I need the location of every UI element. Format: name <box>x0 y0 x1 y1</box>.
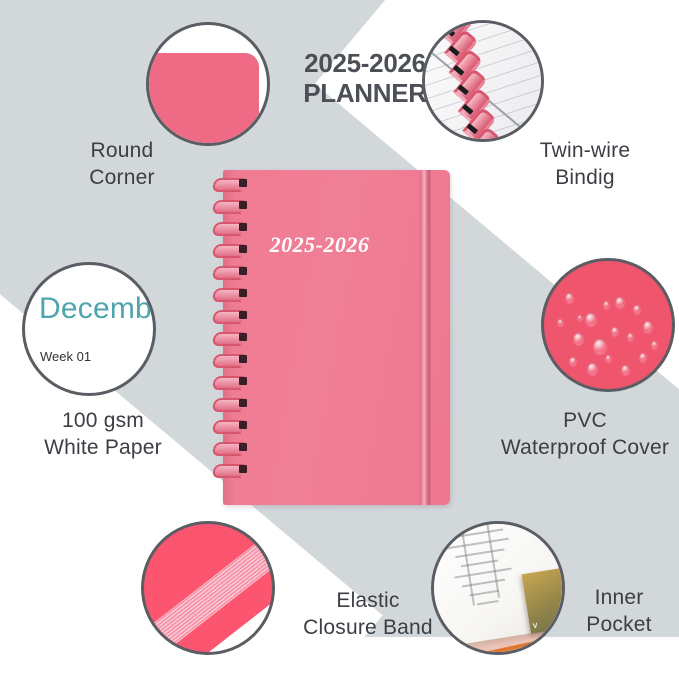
callout-label-inner-pocket: Inner Pocket <box>566 585 672 639</box>
callout-white-paper: December Week 01 <box>22 262 156 396</box>
callout-pvc-waterproof-cover <box>541 258 675 392</box>
planner-cover-title: 2025-2026 <box>223 232 416 258</box>
planner-notebook: 2025-2026 <box>205 170 450 505</box>
round-corner-swatch <box>146 53 259 146</box>
planner-cover: 2025-2026 <box>223 170 450 505</box>
page-title: 2025-2026 PLANNER <box>285 48 445 108</box>
callout-label-white-paper: 100 gsm White Paper <box>22 408 184 462</box>
callout-inner-pocket: V <box>431 521 565 655</box>
page-title-line1: 2025-2026 <box>285 48 445 78</box>
planner-elastic-band <box>420 170 431 505</box>
planner-week-label: Week 01 <box>40 349 91 364</box>
callout-elastic-closure-band <box>141 521 275 655</box>
infographic-canvas: 2025-2026 PLANNER Round Corner Twin-wire… <box>0 0 679 675</box>
page-title-line2: PLANNER <box>285 78 445 108</box>
callout-round-corner <box>146 22 270 146</box>
callout-twin-wire-binding <box>422 20 544 142</box>
callout-label-round-corner: Round Corner <box>56 138 188 192</box>
card-text: V <box>532 623 538 631</box>
callout-label-twin-wire-binding: Twin-wire Bindig <box>505 138 665 192</box>
planner-month-heading: December <box>39 292 156 326</box>
callout-label-pvc-waterproof-cover: PVC Waterproof Cover <box>490 408 679 462</box>
planner-spiral-binding <box>205 178 245 498</box>
background-strip-bottom <box>0 637 679 675</box>
